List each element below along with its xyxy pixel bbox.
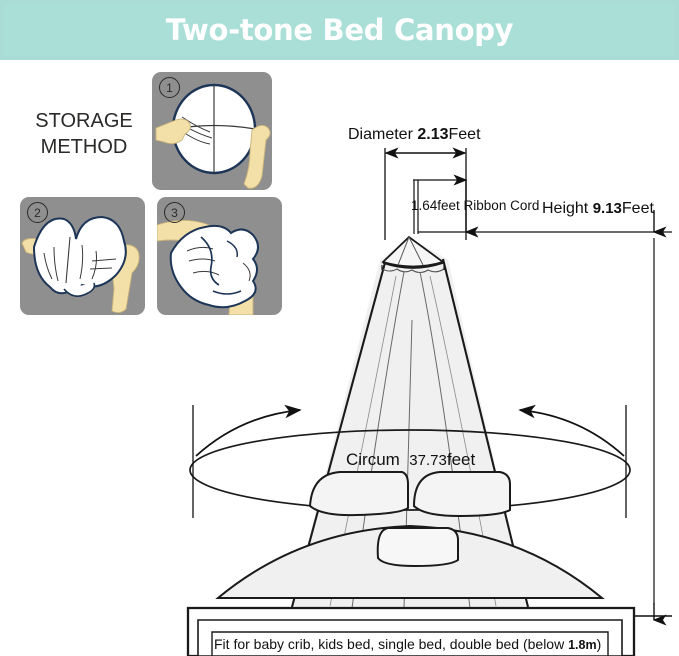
circumference-value: 37.73 (409, 452, 447, 469)
height-label: Height 9.13Feet (542, 200, 654, 218)
infographic-root: Two-tone Bed Canopy STORAGE METHOD 1 (0, 0, 679, 656)
diameter-unit: Feet (449, 126, 481, 143)
header-banner: Two-tone Bed Canopy (0, 0, 679, 60)
fit-note-value: 1.8m (568, 638, 597, 652)
height-prefix: Height (542, 200, 588, 217)
circumference-unit: feet (447, 450, 475, 469)
fit-note-text: Fit for baby crib, kids bed, single bed,… (214, 636, 564, 652)
ribbon-cord-label: 1.64feet Ribbon Cord (411, 198, 539, 213)
page-title: Two-tone Bed Canopy (166, 13, 514, 47)
diameter-value: 2.13 (417, 126, 448, 143)
diameter-prefix: Diameter (348, 126, 413, 143)
fit-note-suffix: ) (597, 636, 602, 652)
canopy-diagram (0, 60, 679, 656)
diameter-label: Diameter 2.13Feet (348, 126, 481, 144)
circumference-label: Circum 37.73feet (346, 450, 475, 470)
height-value: 9.13 (593, 200, 622, 217)
circumference-prefix: Circum (346, 450, 400, 469)
fit-note: Fit for baby crib, kids bed, single bed,… (214, 636, 601, 652)
height-unit: Feet (622, 200, 654, 217)
